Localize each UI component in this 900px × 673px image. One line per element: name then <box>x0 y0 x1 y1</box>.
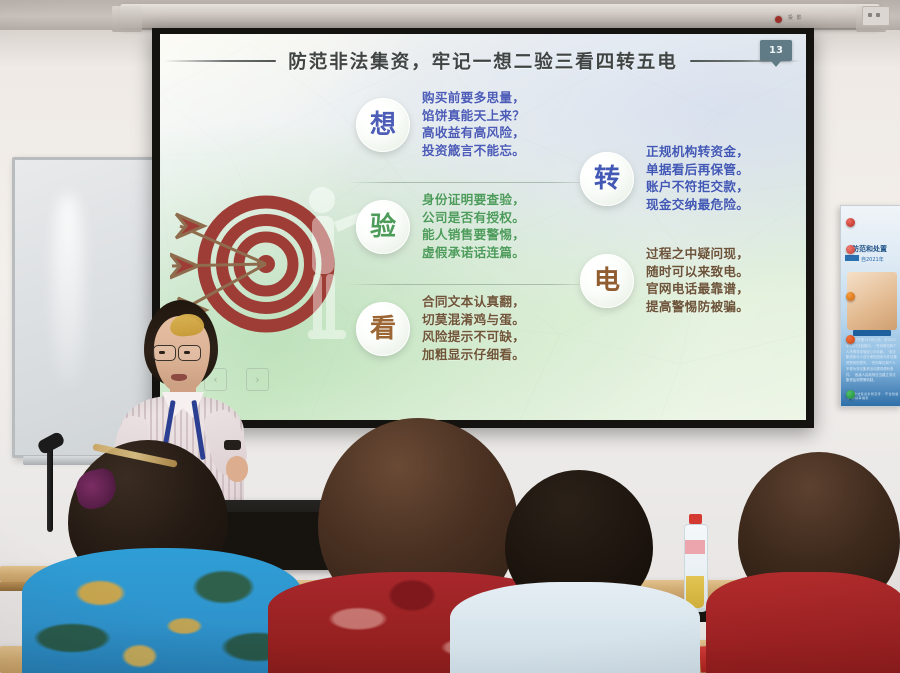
roller-label: 投 影 <box>788 14 803 21</box>
wall-poster: 《防范和处置 自2021年 ·国务院令第737号公布，自2021年5月1日起施行… <box>840 205 900 407</box>
block-key-badge: 验 <box>356 200 410 254</box>
block-lines: 身份证明要查验， 公司是否有授权。 能人销售要警惕， 虚假承诺话连篇。 <box>422 192 525 261</box>
block-line: 随时可以来致电。 <box>646 264 749 281</box>
roller-indicator-icon <box>775 16 782 23</box>
slide-title: 防范非法集资，牢记一想二验三看四转五电 <box>288 48 678 74</box>
block-key-badge: 电 <box>580 254 634 308</box>
block-line: 身份证明要查验， <box>422 192 525 209</box>
pushpin-icon <box>846 335 855 344</box>
pushpin-icon <box>846 218 855 227</box>
audience-body-3-light-blue <box>450 582 700 673</box>
block-lines: 合同文本认真翻， 切莫混淆鸡与蛋。 风险提示不可缺， 加粗显示仔细看。 <box>422 294 525 363</box>
slide-block-xiang: 想 购买前要多思量， 馅饼真能天上来？ 高收益有高风险， 投资箴言不能忘。 <box>356 90 525 159</box>
roller-bracket-left <box>112 6 142 32</box>
block-line: 加粗显示仔细看。 <box>422 347 525 364</box>
bottle-cap <box>689 514 702 524</box>
block-line: 现金交纳最危险。 <box>646 197 749 214</box>
whiteboard-glare <box>53 195 83 385</box>
poster-subheading-band <box>853 330 891 336</box>
block-divider <box>346 182 596 183</box>
block-line: 账户不符拒交款， <box>646 179 749 196</box>
block-line: 虚假承诺话连篇。 <box>422 245 525 262</box>
block-line: 官网电话最靠谱， <box>646 281 749 298</box>
poster-accent-band <box>845 255 859 261</box>
block-line: 切莫混淆鸡与蛋。 <box>422 312 525 329</box>
block-line: 公司是否有授权。 <box>422 210 525 227</box>
block-line: 单据看后再保管。 <box>646 162 749 179</box>
block-key-badge: 想 <box>356 98 410 152</box>
projector-screen-roller: 投 影 <box>120 4 880 28</box>
water-bottle-center <box>682 514 708 610</box>
slide-block-kan: 看 合同文本认真翻， 切莫混淆鸡与蛋。 风险提示不可缺， 加粗显示仔细看。 <box>356 294 525 363</box>
block-line: 投资箴言不能忘。 <box>422 143 525 160</box>
slide-block-zhuan: 转 正规机构转资金， 单据看后再保管。 账户不符拒交款， 现金交纳最危险。 <box>580 144 749 213</box>
block-lines: 购买前要多思量， 馅饼真能天上来？ 高收益有高风险， 投资箴言不能忘。 <box>422 90 525 159</box>
block-line: 正规机构转资金， <box>646 144 749 161</box>
block-divider <box>346 284 596 285</box>
slide-block-yan: 验 身份证明要查验， 公司是否有授权。 能人销售要警惕， 虚假承诺话连篇。 <box>356 192 525 261</box>
block-line: 高收益有高风险， <box>422 125 525 142</box>
poster-image <box>847 272 897 330</box>
presenter-eye-left <box>159 351 165 354</box>
presenter-eye-right <box>184 351 190 354</box>
block-key-badge: 转 <box>580 152 634 206</box>
pushpin-icon <box>846 390 855 399</box>
bottle-label <box>685 540 705 554</box>
slide-block-dian: 电 过程之中疑问现， 随时可以来致电。 官网电话最靠谱， 提高警惕防被骗。 <box>580 246 749 315</box>
projected-slide: 防范非法集资，牢记一想二验三看四转五电 13 <box>160 34 806 420</box>
poster-subtitle: 自2021年 <box>861 256 884 263</box>
classroom-photo: 投 影 <box>0 0 900 673</box>
block-lines: 过程之中疑问现， 随时可以来致电。 官网电话最靠谱， 提高警惕防被骗。 <box>646 246 749 315</box>
block-line: 馅饼真能天上来？ <box>422 108 525 125</box>
presenter-hand-right <box>226 456 248 482</box>
block-lines: 正规机构转资金， 单据看后再保管。 账户不符拒交款， 现金交纳最危险。 <box>646 144 749 213</box>
slide-next-button[interactable]: › <box>246 368 269 391</box>
block-line: 过程之中疑问现， <box>646 246 749 263</box>
wall-outlet <box>862 6 890 26</box>
presenter-mouth <box>171 374 187 381</box>
block-line: 合同文本认真翻， <box>422 294 525 311</box>
poster-body: ·国务院令第737号公布，自2021年5月1日起施行。 ·任何单位和个人不得非法… <box>846 338 898 384</box>
page-number-badge: 13 <box>760 40 792 61</box>
title-rule-left <box>164 60 276 62</box>
audience-body-4-red-vest <box>706 572 900 673</box>
pushpin-icon <box>846 292 855 301</box>
presenter-wristwatch <box>224 440 241 450</box>
pushpin-icon <box>846 245 855 254</box>
block-line: 风险提示不可缺， <box>422 329 525 346</box>
microphone-stand <box>47 444 53 532</box>
slide-title-row: 防范非法集资，牢记一想二验三看四转五电 <box>160 48 806 74</box>
block-line: 能人销售要警惕， <box>422 227 525 244</box>
block-line: 提高警惕防被骗。 <box>646 299 749 316</box>
block-line: 购买前要多思量， <box>422 90 525 107</box>
block-key-badge: 看 <box>356 302 410 356</box>
audience-body-1-floral-blue <box>22 548 302 673</box>
